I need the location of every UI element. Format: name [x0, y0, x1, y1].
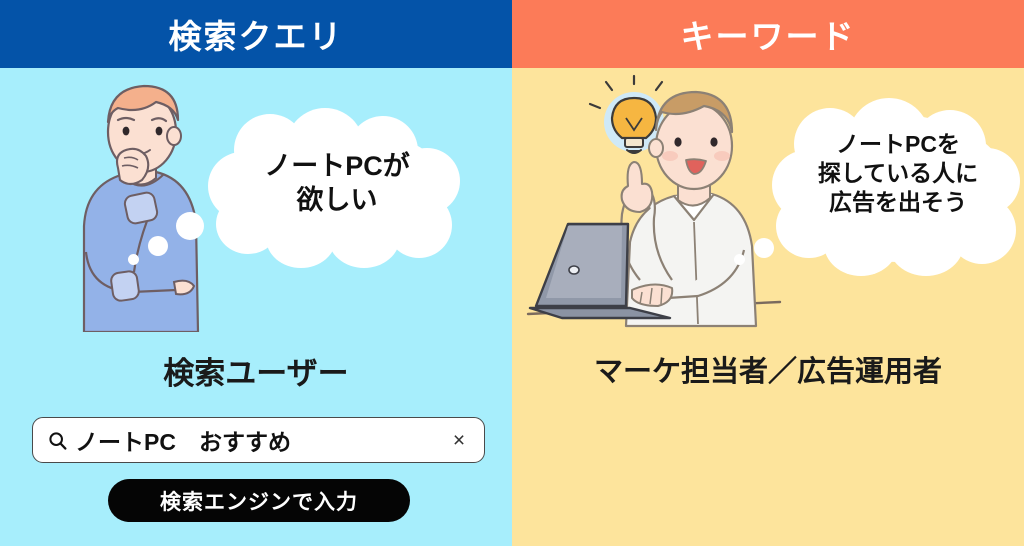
comparison-board: 検索クエリ [0, 0, 1024, 546]
left-caption-text: 検索ユーザー [163, 356, 348, 391]
right-thought-bubble: ノートPCを 探している人に 広告を出そう [772, 98, 1022, 278]
thinking-person-illustration [56, 76, 216, 332]
search-engine-input-button[interactable]: 検索エンジンで入力 [108, 479, 410, 522]
panel-left-header-title: 検索クエリ [169, 10, 344, 58]
marketer-with-laptop-and-lightbulb-illustration [522, 74, 782, 336]
panel-left-header: 検索クエリ [0, 0, 512, 68]
thought-dot-large [176, 212, 204, 240]
right-thought-bubble-text: ノートPCを 探している人に 広告を出そう [780, 130, 1016, 216]
search-query-value[interactable]: ノートPC おすすめ [69, 423, 448, 457]
search-query-input-box[interactable]: ノートPC おすすめ × [32, 417, 485, 463]
left-thought-bubble: ノートPCが 欲しい [208, 108, 464, 268]
thought-dot-small [128, 254, 139, 265]
thought-dot-medium [754, 238, 774, 258]
panel-keyword: キーワード [512, 0, 1024, 546]
search-icon [45, 428, 69, 452]
panel-right-header: キーワード [512, 0, 1024, 68]
right-caption-text: マーケ担当者／広告運用者 [594, 356, 942, 388]
thought-dot-small [734, 254, 745, 265]
search-engine-input-button-label: 検索エンジンで入力 [160, 486, 358, 516]
thought-dot-medium [148, 236, 168, 256]
right-caption: マーケ担当者／広告運用者 [512, 348, 1024, 390]
left-thought-bubble-text: ノートPCが 欲しい [226, 150, 448, 218]
right-illustration-area: ノートPCを 探している人に 広告を出そう [512, 68, 1024, 340]
left-caption: 検索ユーザー [0, 348, 512, 393]
panel-right-header-title: キーワード [681, 10, 856, 58]
clear-icon[interactable]: × [448, 429, 470, 451]
left-illustration-area: ノートPCが 欲しい [0, 68, 512, 340]
panel-search-query: 検索クエリ [0, 0, 512, 546]
